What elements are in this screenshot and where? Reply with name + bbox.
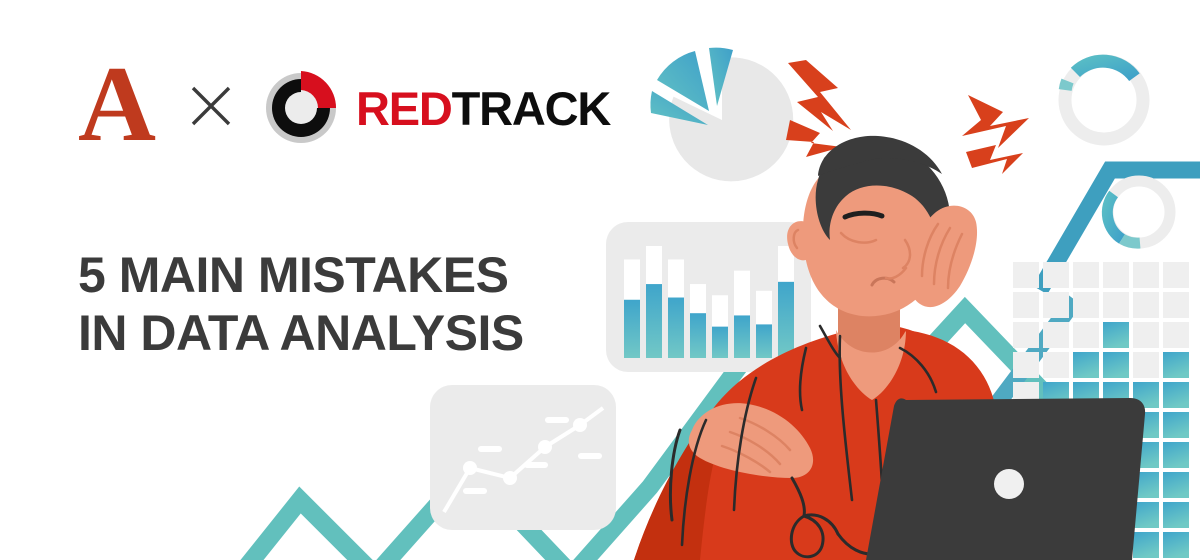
brand-a-logo: A	[78, 51, 154, 159]
page-title-line-2: IN DATA ANALYSIS	[78, 304, 598, 362]
page-title: 5 MAIN MISTAKES IN DATA ANALYSIS	[78, 246, 598, 362]
redtrack-word-red: RED	[356, 81, 452, 136]
redtrack-donut-icon	[260, 65, 342, 152]
multiply-icon	[188, 83, 234, 134]
logo-lockup: A REDTRACK	[78, 58, 610, 158]
laptop-circle-logo-icon	[994, 469, 1024, 499]
page-title-line-1: 5 MAIN MISTAKES	[78, 246, 598, 304]
redtrack-wordmark: REDTRACK	[356, 81, 610, 136]
redtrack-word-black: TRACK	[452, 81, 610, 136]
banner-root: A REDTRACK 5 MAIN MISTAKES IN DATA ANALY…	[0, 0, 1200, 560]
